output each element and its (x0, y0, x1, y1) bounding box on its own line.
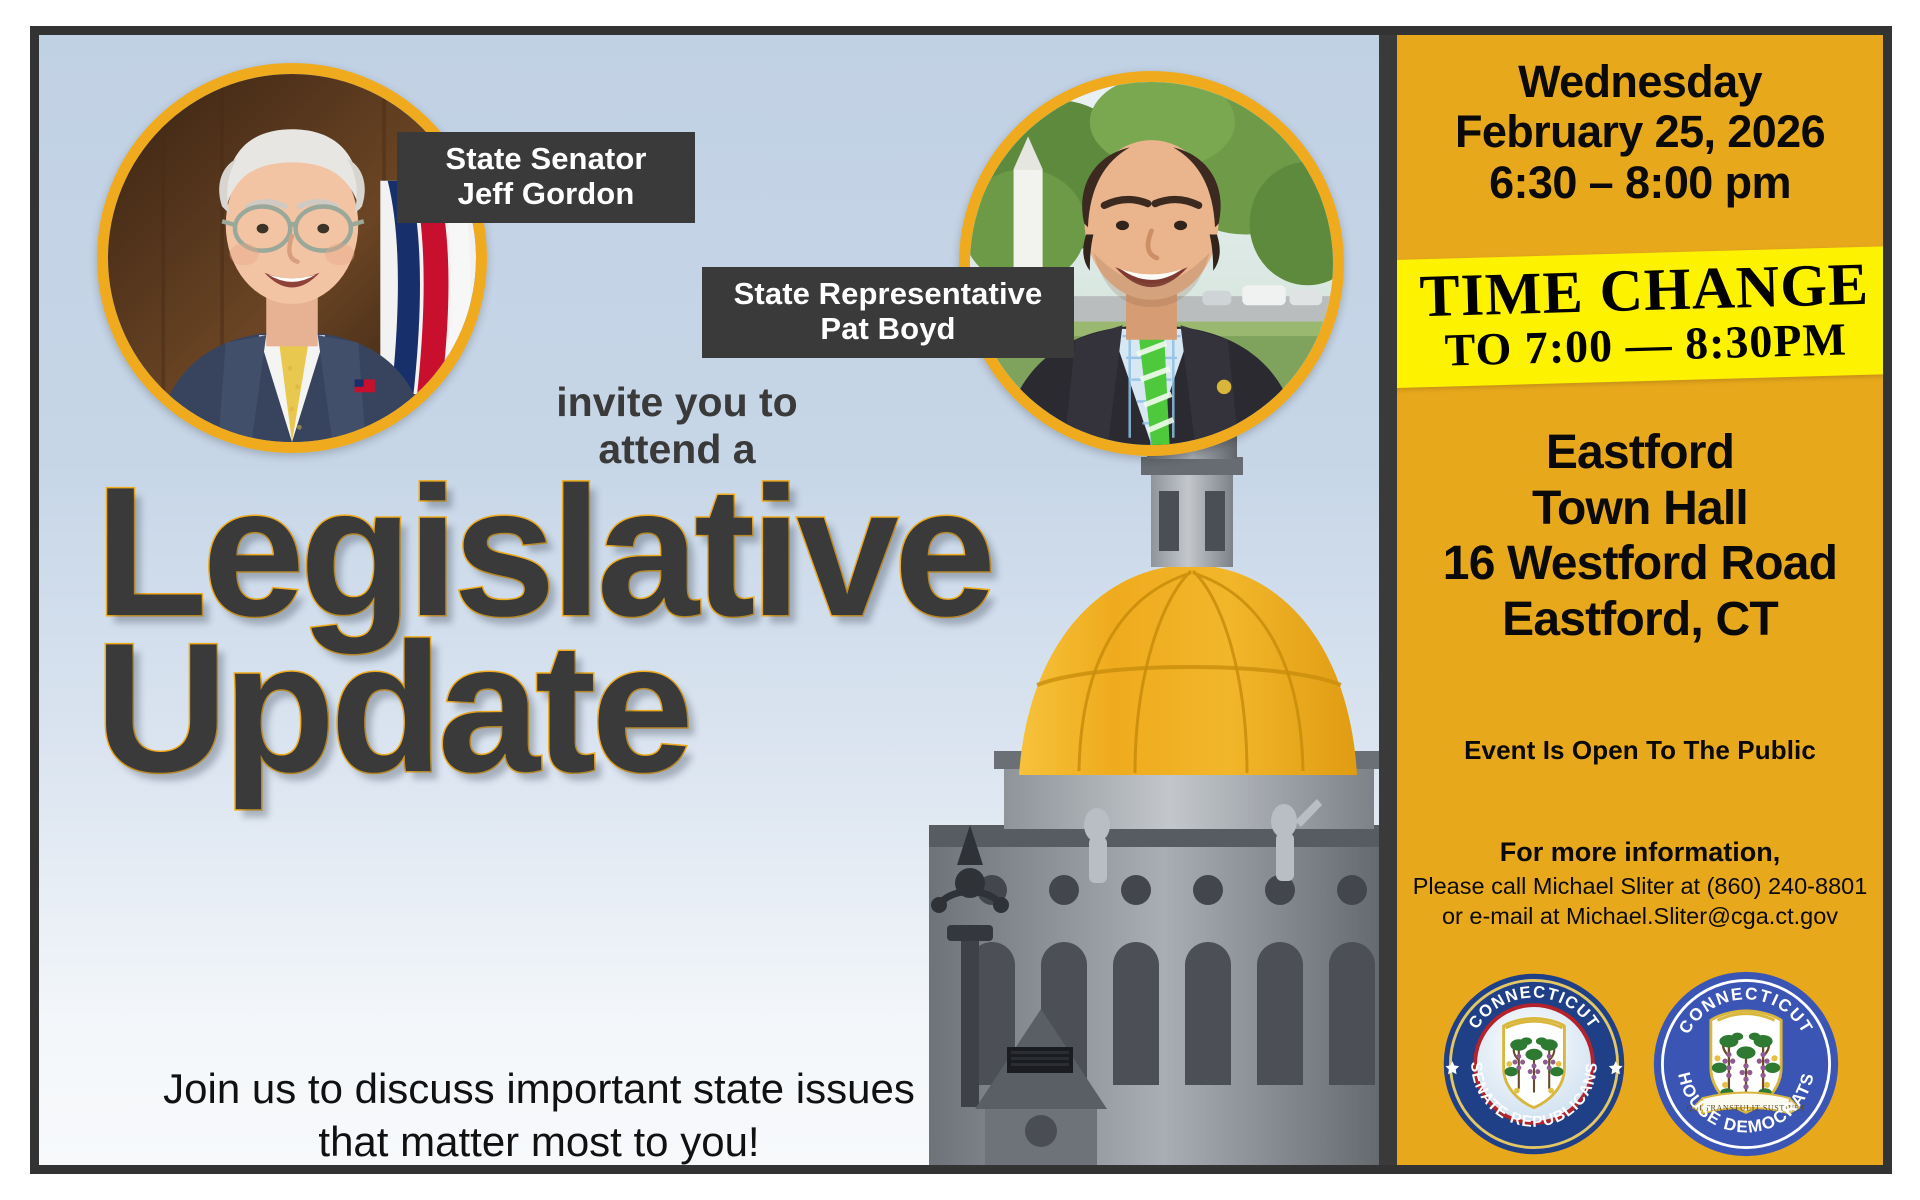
event-original-time: 6:30 – 8:00 pm (1397, 158, 1883, 208)
invite-line-1: invite you to (487, 379, 867, 426)
details-panel: Wednesday February 25, 2026 6:30 – 8:00 … (1397, 35, 1883, 1165)
event-venue: Eastford Town Hall 16 Westford Road East… (1397, 425, 1883, 648)
contact-email-line: or e-mail at Michael.Sliter@cga.ct.gov (1397, 902, 1883, 932)
ct-house-democrats-seal: QUI TRANSTULIT SUSTINET CONNECTICUT HOUS… (1651, 969, 1841, 1159)
nameplate-pat-boyd: State Representative Pat Boyd (702, 267, 1074, 358)
tagline-line-1: Join us to discuss important state issue… (79, 1063, 999, 1116)
panel-divider (1379, 35, 1397, 1165)
venue-line-2: Town Hall (1397, 481, 1883, 537)
contact-heading: For more information, (1397, 835, 1883, 869)
venue-line-4: Eastford, CT (1397, 592, 1883, 648)
avatar-pat-boyd (959, 71, 1344, 456)
main-panel: State Senator Jeff Gordon State Represen… (39, 35, 1379, 1165)
speaker-name: Pat Boyd (722, 311, 1054, 346)
event-day: Wednesday (1397, 57, 1883, 107)
speaker-title: State Senator (417, 141, 675, 176)
event-date: February 25, 2026 (1397, 107, 1883, 157)
page-title: Legislative Update (95, 473, 1355, 786)
avatar-jeff-gordon (97, 63, 487, 453)
event-date-time: Wednesday February 25, 2026 6:30 – 8:00 … (1397, 57, 1883, 208)
tagline: Join us to discuss important state issue… (79, 1063, 999, 1165)
venue-line-1: Eastford (1397, 425, 1883, 481)
time-change-new-time: TO 7:00 — 8:30PM (1397, 314, 1883, 378)
nameplate-jeff-gordon: State Senator Jeff Gordon (397, 132, 695, 223)
ct-senate-republicans-seal: CONNECTICUT SENATE REPUBLICANS (1439, 969, 1629, 1159)
time-change-banner: TIME CHANGE TO 7:00 — 8:30PM (1397, 246, 1883, 389)
open-to-public-note: Event Is Open To The Public (1397, 735, 1883, 766)
speaker-title: State Representative (722, 276, 1054, 311)
contact-phone-line: Please call Michael Sliter at (860) 240-… (1397, 872, 1883, 902)
speaker-name: Jeff Gordon (417, 176, 675, 211)
contact-info: For more information, Please call Michae… (1397, 835, 1883, 931)
tagline-line-2: that matter most to you! (79, 1116, 999, 1165)
event-flyer: State Senator Jeff Gordon State Represen… (30, 26, 1892, 1174)
venue-line-3: 16 Westford Road (1397, 536, 1883, 592)
organization-seals: CONNECTICUT SENATE REPUBLICANS (1397, 969, 1883, 1159)
